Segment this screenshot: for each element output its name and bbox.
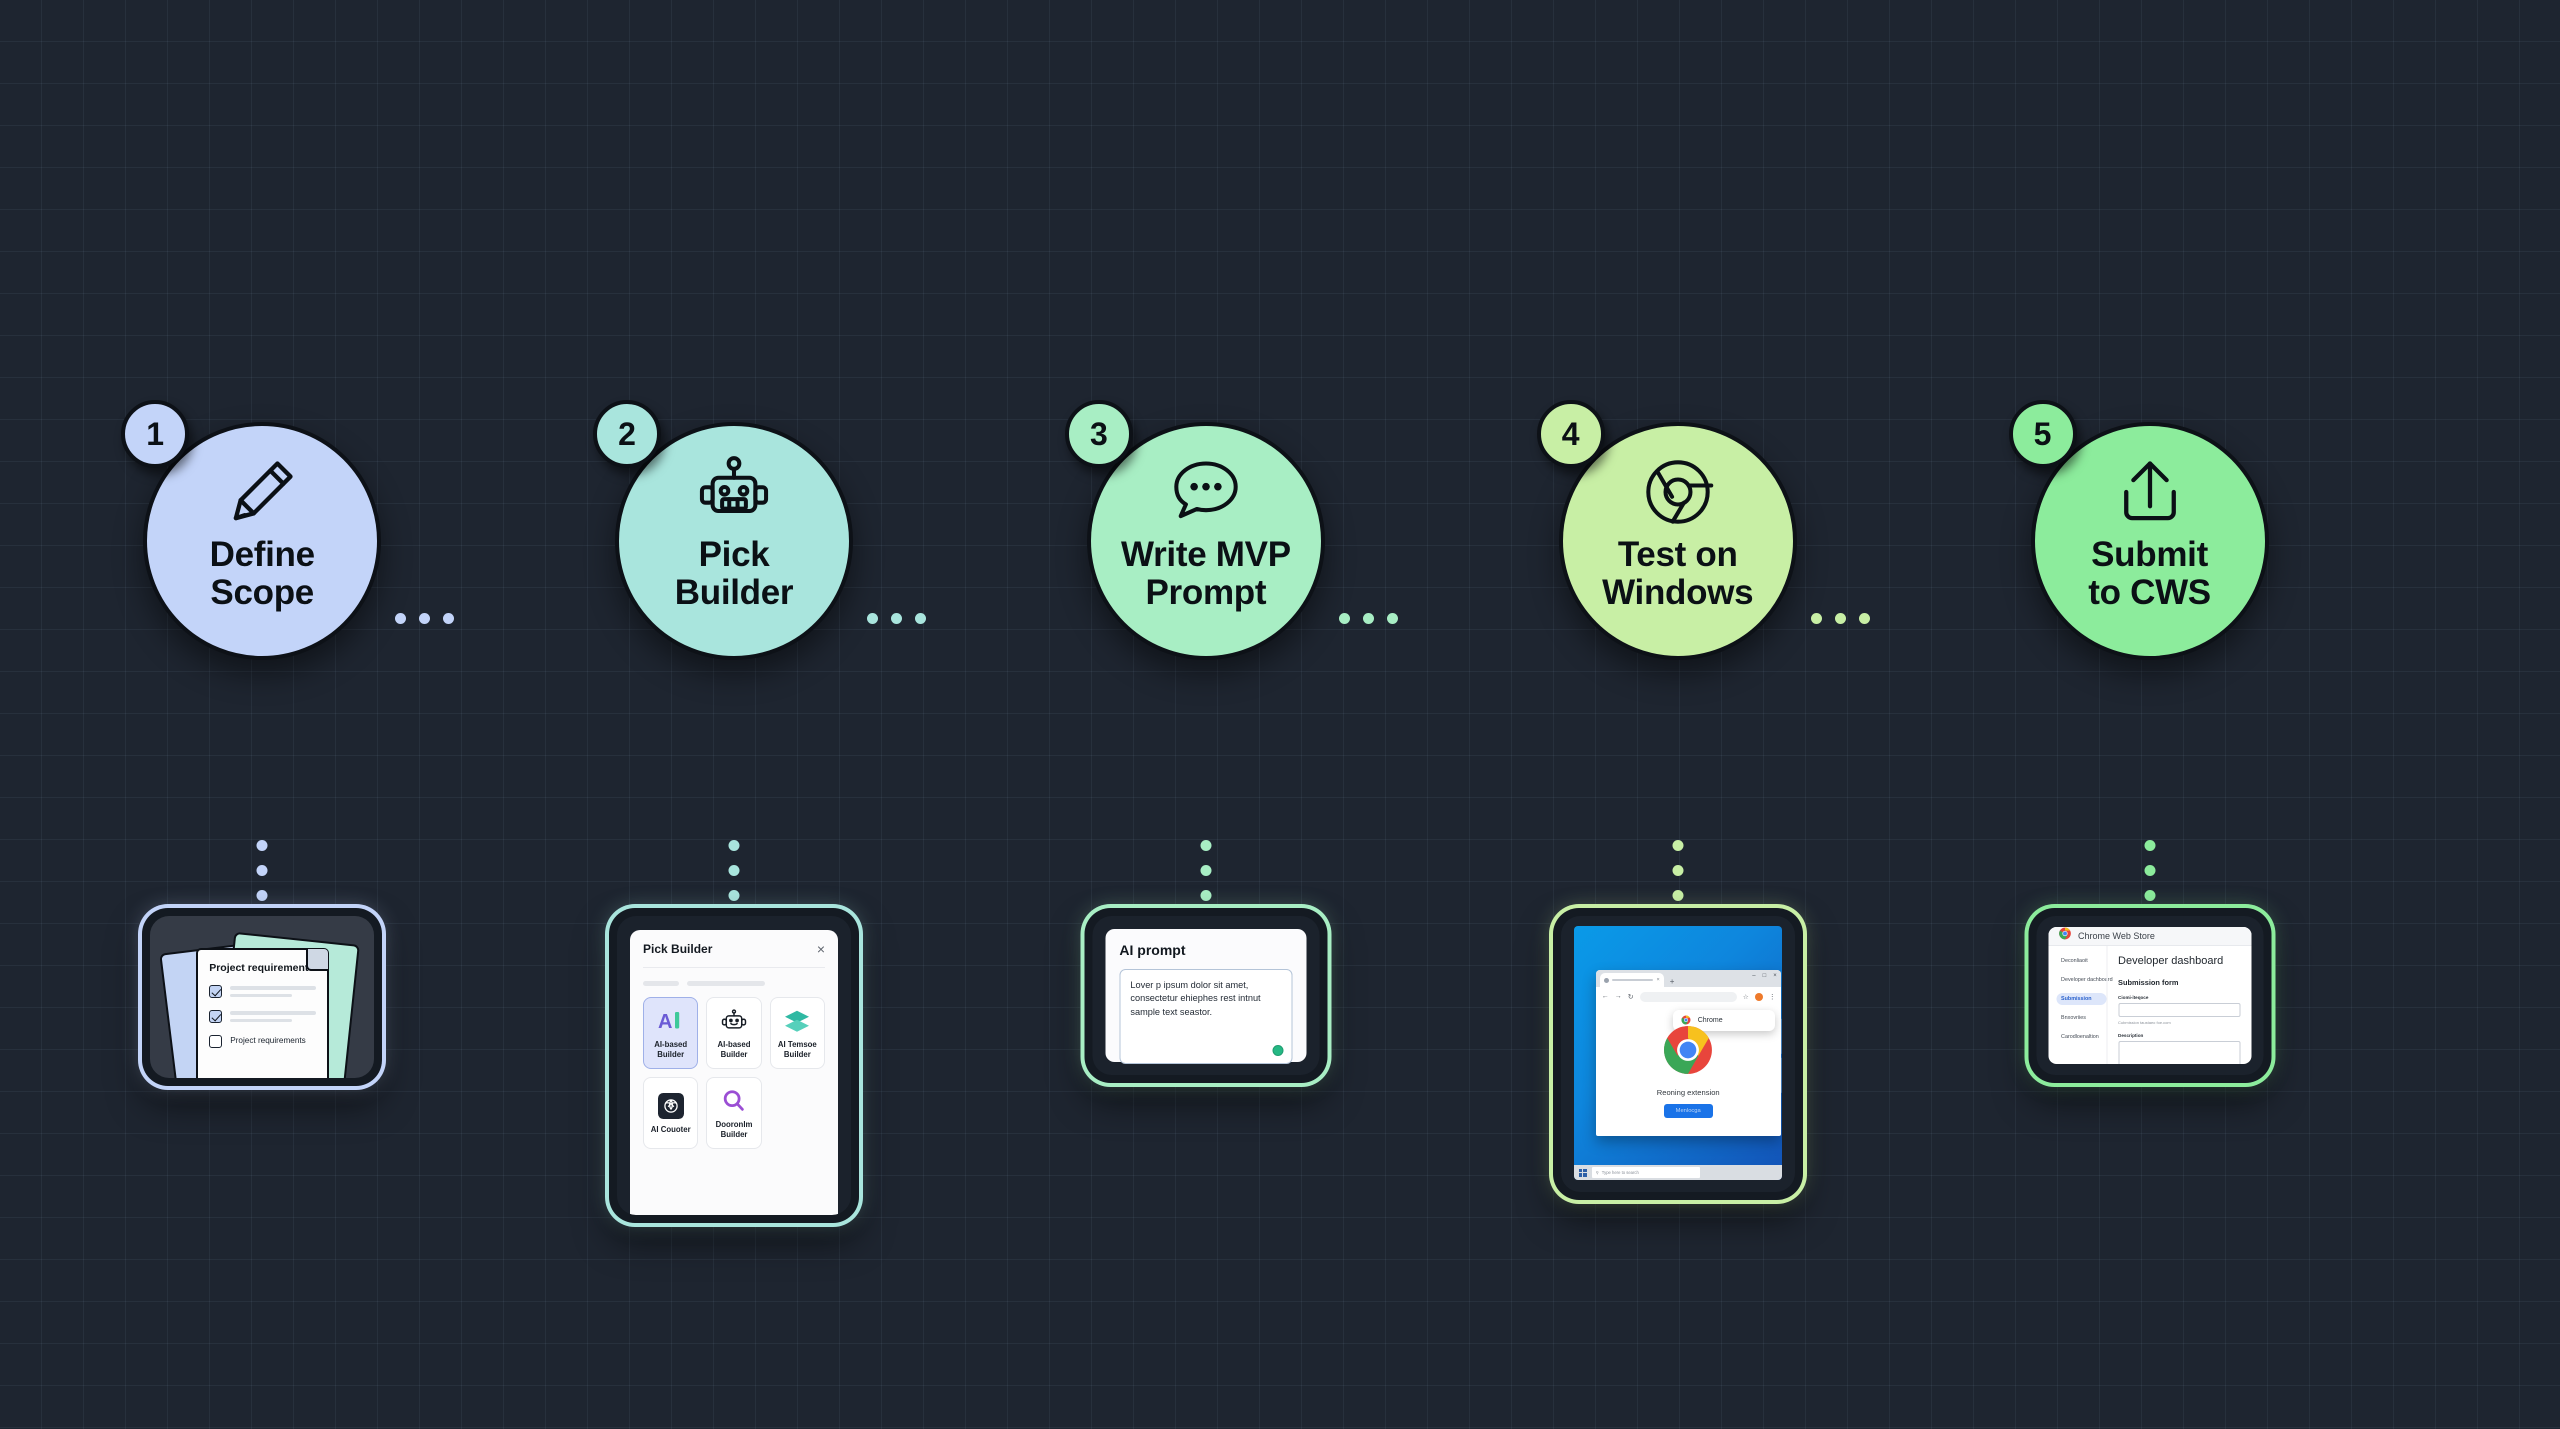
taskbar-search-placeholder: Type here to search xyxy=(1602,1170,1639,1175)
builder-tile-3[interactable]: AI Temsoe Builder xyxy=(770,997,825,1069)
vertical-connector-dots-3 xyxy=(1200,840,1211,901)
favicon-icon xyxy=(1604,978,1609,983)
prompt-panel-title: AI prompt xyxy=(1119,942,1292,958)
step-label-4: Test on Windows xyxy=(1602,536,1753,612)
description-textarea[interactable] xyxy=(2118,1041,2240,1064)
connector-dot xyxy=(1200,890,1211,901)
checklist-row: Project requirements xyxy=(209,1035,316,1048)
builder-tile-2[interactable]: AI-based Builder xyxy=(706,997,761,1069)
connector-dot xyxy=(2144,840,2155,851)
placeholder-line xyxy=(230,986,316,990)
sidebar-item-3[interactable]: Submission xyxy=(2056,993,2106,1005)
field-hint-1: Cubmission taustaeo foe.com xyxy=(2118,1020,2240,1025)
connector-dot xyxy=(729,890,740,901)
start-pane xyxy=(1579,1169,1583,1173)
step-number-badge-4: 4 xyxy=(1537,400,1605,468)
start-pane xyxy=(1579,1173,1583,1177)
card-screen-5: Chrome Web StoreDeconliaoitDeveloper dac… xyxy=(2036,916,2263,1075)
sidebar-item-5[interactable]: Carodloenaltion xyxy=(2056,1031,2106,1043)
prompt-text-value: Lover p ipsum dolor sit amet, consectetu… xyxy=(1130,979,1281,1019)
page-primary-button[interactable]: Menlocga xyxy=(1664,1104,1713,1118)
connector-dot xyxy=(729,840,740,851)
horizontal-connector-dots-1 xyxy=(395,613,454,624)
vertical-connector-dots-1 xyxy=(257,840,268,901)
connector-dot xyxy=(915,613,926,624)
builder-tile-label: AI Temsoe Builder xyxy=(778,1040,817,1059)
browser-toolbar: ←→↻☆⋮ xyxy=(1596,987,1781,1006)
text-input-1[interactable] xyxy=(2118,1003,2240,1017)
page-fold-corner xyxy=(306,949,328,971)
start-button-icon[interactable] xyxy=(1579,1169,1587,1177)
layers-icon xyxy=(783,1007,811,1035)
speech-bubble-icon xyxy=(1168,454,1244,530)
card-screen-2: Pick Builder×AAI-based BuilderAI-based B… xyxy=(617,916,851,1215)
chrome-web-store-app: Chrome Web StoreDeconliaoitDeveloper dac… xyxy=(2048,927,2251,1064)
step-card-3[interactable]: AI promptLover p ipsum dolor sit amet, c… xyxy=(1084,908,1327,1083)
connector-dot xyxy=(1200,865,1211,876)
chrome-icon xyxy=(1640,454,1716,530)
card-screen-3: AI promptLover p ipsum dolor sit amet, c… xyxy=(1092,916,1319,1075)
close-icon[interactable]: × xyxy=(1773,973,1777,979)
modal-header: Pick Builder× xyxy=(643,942,825,968)
step-number-badge-1: 1 xyxy=(121,400,189,468)
connector-dot xyxy=(1339,613,1350,624)
profile-avatar[interactable] xyxy=(1755,993,1763,1001)
tab-close-icon[interactable]: × xyxy=(1656,977,1659,983)
minimize-icon[interactable]: – xyxy=(1752,973,1755,979)
checklist-row xyxy=(209,1010,316,1026)
forward-icon[interactable]: → xyxy=(1615,993,1622,1000)
horizontal-connector-dots-3 xyxy=(1339,613,1398,624)
placeholder-line xyxy=(230,1011,316,1015)
sidebar-item-4[interactable]: Bnxovriies xyxy=(2056,1012,2106,1024)
sidebar-item-1[interactable]: Deconliaoit xyxy=(2056,955,2106,967)
windows-desktop: ×+–□×←→↻☆⋮ChromeReoning extensionMenlocg… xyxy=(1574,926,1782,1180)
step-card-2[interactable]: Pick Builder×AAI-based BuilderAI-based B… xyxy=(609,908,859,1223)
placeholder-chip xyxy=(643,981,679,986)
magnifier-icon xyxy=(721,1087,747,1115)
document-title: Project requirements xyxy=(209,962,316,974)
builder-tile-1[interactable]: AAI-based Builder xyxy=(643,997,698,1069)
new-tab-button[interactable]: + xyxy=(1670,977,1675,986)
step-card-4[interactable]: ×+–□×←→↻☆⋮ChromeReoning extensionMenlocg… xyxy=(1553,908,1803,1200)
checklist-placeholder-lines xyxy=(230,985,316,1001)
connector-dot xyxy=(1200,840,1211,851)
connector-dot xyxy=(257,890,268,901)
horizontal-connector-dots-2 xyxy=(867,613,926,624)
back-icon[interactable]: ← xyxy=(1602,993,1609,1000)
placeholder-chips xyxy=(643,968,825,997)
empty-tile-slot xyxy=(770,1077,825,1149)
connector-dot xyxy=(1672,890,1683,901)
builder-tile-4[interactable]: AI Couoter xyxy=(643,1077,698,1149)
connector-dot xyxy=(443,613,454,624)
connector-dot xyxy=(257,840,268,851)
pick-builder-modal: Pick Builder×AAI-based BuilderAI-based B… xyxy=(630,930,838,1215)
step-card-5[interactable]: Chrome Web StoreDeconliaoitDeveloper dac… xyxy=(2028,908,2271,1083)
step-card-1[interactable]: Project requirementsProject requirements xyxy=(142,908,382,1086)
step-label-2: Pick Builder xyxy=(675,536,793,612)
browser-page-content: Reoning extensionMenlocga xyxy=(1596,1006,1781,1136)
step-4-column: Test on Windows4×+–□×←→↻☆⋮ChromeReoning … xyxy=(1468,0,1888,1429)
page-caption: Reoning extension xyxy=(1657,1088,1720,1097)
connector-dot xyxy=(1672,840,1683,851)
builder-tile-label: Dooronlm Builder xyxy=(716,1120,753,1139)
vertical-connector-dots-5 xyxy=(2144,840,2155,901)
menu-kebab-icon[interactable]: ⋮ xyxy=(1769,993,1775,1001)
step-1-column: Define Scope1Project requirementsProject… xyxy=(52,0,472,1429)
svg-text:A: A xyxy=(658,1011,672,1033)
builder-tile-label: AI-based Builder xyxy=(654,1040,687,1059)
ai-letters-icon: A xyxy=(658,1007,684,1035)
bookmark-star-icon[interactable]: ☆ xyxy=(1743,993,1749,1001)
placeholder-line xyxy=(230,994,292,998)
start-pane xyxy=(1583,1173,1587,1177)
connector-dot xyxy=(2144,865,2155,876)
tab-title-placeholder xyxy=(1612,979,1654,982)
builder-tile-label: AI-based Builder xyxy=(718,1040,751,1059)
address-bar[interactable] xyxy=(1640,992,1737,1002)
field-label-2: Description xyxy=(2118,1033,2240,1038)
taskbar-search-box[interactable]: ⚲Type here to search xyxy=(1592,1167,1700,1178)
robot-face-icon xyxy=(721,1007,747,1035)
connector-dot xyxy=(1859,613,1870,624)
requirements-document: Project requirementsProject requirements xyxy=(196,948,329,1078)
chrome-web-store-logo-icon xyxy=(2058,927,2071,945)
start-pane xyxy=(1583,1169,1587,1173)
builder-tile-grid: AAI-based BuilderAI-based BuilderAI Tems… xyxy=(643,997,825,1149)
connector-dot xyxy=(867,613,878,624)
checklist-placeholder-lines xyxy=(230,1010,316,1026)
search-icon: ⚲ xyxy=(1596,1170,1599,1175)
connector-dot xyxy=(1387,613,1398,624)
checkbox-checked[interactable] xyxy=(209,985,222,998)
step-number-badge-5: 5 xyxy=(2009,400,2077,468)
builder-tile-5[interactable]: Dooronlm Builder xyxy=(706,1077,761,1149)
cws-main-content: Developer dashboardSubmission formCiomi-… xyxy=(2106,946,2251,1064)
status-indicator-icon xyxy=(1272,1045,1283,1056)
checklist-row xyxy=(209,985,316,1001)
placeholder-line xyxy=(230,1019,292,1023)
placeholder-chip xyxy=(687,981,765,986)
vertical-connector-dots-4 xyxy=(1672,840,1683,901)
cws-brand-label: Chrome Web Store xyxy=(2078,931,2155,941)
connector-dot xyxy=(1811,613,1822,624)
reload-icon[interactable]: ↻ xyxy=(1628,993,1634,1001)
connector-dot xyxy=(891,613,902,624)
step-label-1: Define Scope xyxy=(210,536,315,612)
maximize-icon[interactable]: □ xyxy=(1763,973,1767,979)
step-2-column: Pick Builder2Pick Builder×AAI-based Buil… xyxy=(524,0,944,1429)
connector-dot xyxy=(1672,865,1683,876)
robot-icon xyxy=(696,454,772,530)
browser-tab-bar: ×+–□× xyxy=(1596,970,1781,987)
step-5-column: Submit to CWS5Chrome Web StoreDeconliaoi… xyxy=(1940,0,2360,1429)
cws-header: Chrome Web Store xyxy=(2048,927,2251,946)
step-label-3: Write MVP Prompt xyxy=(1121,536,1291,612)
connector-dot xyxy=(1363,613,1374,624)
pencil-icon xyxy=(224,454,300,530)
step-label-5: Submit to CWS xyxy=(2088,536,2211,612)
horizontal-connector-dots-4 xyxy=(1811,613,1870,624)
field-label-1: Ciomi-iteqoce xyxy=(2118,995,2240,1000)
checkbox-unchecked[interactable] xyxy=(209,1035,222,1048)
step-number-badge-3: 3 xyxy=(1065,400,1133,468)
vertical-connector-dots-2 xyxy=(729,840,740,901)
cws-body: DeconliaoitDeveloper dachboardSubmission… xyxy=(2048,946,2251,1064)
window-controls: –□× xyxy=(1752,973,1776,979)
connector-dot xyxy=(257,865,268,876)
sidebar-item-2[interactable]: Developer dachboard xyxy=(2056,974,2106,986)
builder-tile-label: AI Couoter xyxy=(651,1125,691,1134)
page-title: Developer dashboard xyxy=(2118,955,2240,967)
section-title: Submission form xyxy=(2118,978,2240,987)
browser-tab[interactable]: × xyxy=(1600,973,1664,987)
step-number-badge-2: 2 xyxy=(593,400,661,468)
connector-dot xyxy=(395,613,406,624)
windows-taskbar: ⚲Type here to search xyxy=(1574,1165,1782,1180)
cws-sidebar: DeconliaoitDeveloper dachboardSubmission… xyxy=(2048,946,2106,1064)
card-screen-4: ×+–□×←→↻☆⋮ChromeReoning extensionMenlocg… xyxy=(1561,916,1795,1192)
modal-title: Pick Builder xyxy=(643,942,712,956)
connector-dot xyxy=(729,865,740,876)
checklist-label: Project requirements xyxy=(230,1035,306,1045)
card-screen-1: Project requirementsProject requirements xyxy=(150,916,374,1078)
step-3-column: Write MVP Prompt3AI promptLover p ipsum … xyxy=(996,0,1416,1429)
chrome-browser-window: ×+–□×←→↻☆⋮ChromeReoning extensionMenlocg… xyxy=(1596,970,1781,1136)
checkbox-checked[interactable] xyxy=(209,1010,222,1023)
connector-dot xyxy=(419,613,430,624)
openai-icon xyxy=(658,1092,684,1120)
prompt-textarea[interactable]: Lover p ipsum dolor sit amet, consectetu… xyxy=(1119,969,1292,1064)
upload-icon xyxy=(2112,454,2188,530)
connector-dot xyxy=(2144,890,2155,901)
ai-prompt-panel: AI promptLover p ipsum dolor sit amet, c… xyxy=(1105,929,1306,1062)
connector-dot xyxy=(1835,613,1846,624)
chrome-logo-large-icon xyxy=(1662,1024,1714,1081)
flow-diagram-canvas: Define Scope1Project requirementsProject… xyxy=(0,0,2560,1429)
close-icon[interactable]: × xyxy=(817,942,825,956)
